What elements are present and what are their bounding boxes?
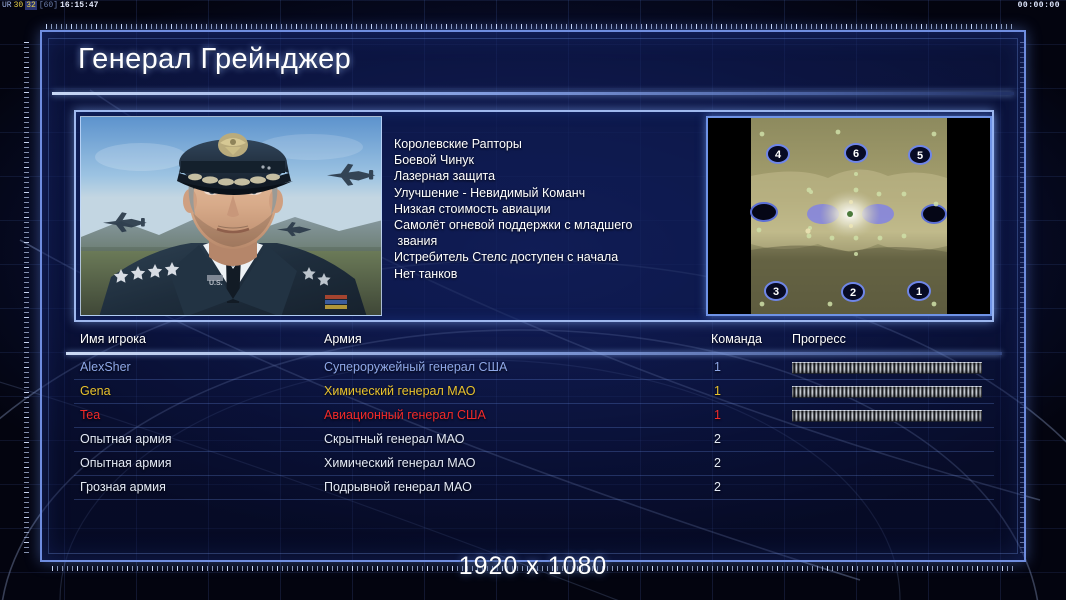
svg-text:1: 1 xyxy=(916,286,922,298)
player-name: Gena xyxy=(80,384,111,398)
ability-item: Низкая стоимость авиации xyxy=(394,201,706,217)
title-bar: Генерал Грейнджер xyxy=(52,40,1012,90)
column-header-name: Имя игрока xyxy=(80,332,146,346)
player-team: 1 xyxy=(714,360,721,374)
svg-text:4: 4 xyxy=(775,149,782,161)
hud-clock-left: 16:15:47 xyxy=(60,1,98,10)
hud-top-bar: UR3032[60]16:15:47 00:00:00 xyxy=(0,0,1066,12)
player-army: Скрытный генерал МАО xyxy=(324,432,464,446)
player-army: Авиационный генерал США xyxy=(324,408,486,422)
ability-item: звания xyxy=(394,233,706,249)
player-team: 2 xyxy=(714,432,721,446)
svg-text:2: 2 xyxy=(850,287,856,299)
player-army: Подрывной генерал МАО xyxy=(324,480,472,494)
resolution-overlay: 1920 x 1080 xyxy=(0,552,1066,581)
svg-text:5: 5 xyxy=(917,150,923,162)
player-table-body: AlexSherСупероружейный генерал США1GenaХ… xyxy=(74,356,994,524)
table-row[interactable]: TeaАвиационный генерал США1 xyxy=(74,404,994,428)
table-header-divider xyxy=(66,352,1002,355)
general-ability-list: Королевские Рапторы Боевой Чинук Лазерна… xyxy=(394,136,706,282)
column-header-army: Армия xyxy=(324,332,362,346)
player-progress xyxy=(792,362,982,374)
progress-bar xyxy=(792,386,982,398)
spawn-marker-2: 2 xyxy=(842,283,864,301)
spawn-marker-3: 3 xyxy=(765,282,787,300)
spawn-marker-1: 1 xyxy=(908,282,930,300)
progress-bar xyxy=(792,362,982,374)
ability-item: Истребитель Стелс доступен с начала xyxy=(394,249,706,265)
player-progress xyxy=(792,410,982,422)
ability-item: Самолёт огневой поддержки с младшего xyxy=(394,217,706,233)
ability-item: Боевой Чинук xyxy=(394,152,706,168)
player-team: 1 xyxy=(714,384,721,398)
player-team: 1 xyxy=(714,408,721,422)
player-progress xyxy=(792,386,982,398)
general-info-panel: U.S. Королевские Рапторы Боевой Чинук Ла… xyxy=(74,110,994,322)
ability-item: Нет танков xyxy=(394,266,706,282)
minimap[interactable]: 4 6 5 3 2 xyxy=(706,116,992,316)
table-row[interactable]: GenaХимический генерал МАО1 xyxy=(74,380,994,404)
column-header-progress: Прогресс xyxy=(792,332,846,346)
player-name: Грозная армия xyxy=(80,480,166,494)
general-portrait: U.S. xyxy=(80,116,382,316)
player-table-header: Имя игрока Армия Команда Прогресс xyxy=(74,332,994,352)
table-row[interactable]: Грозная армияПодрывной генерал МАО2 xyxy=(74,476,994,500)
hud-bracket-value: [60] xyxy=(39,1,58,10)
ability-item: Лазерная защита xyxy=(394,168,706,184)
player-name: Tea xyxy=(80,408,100,422)
spawn-marker-4: 4 xyxy=(767,145,789,163)
hud-value-2: 32 xyxy=(25,1,37,10)
main-panel: Генерал Грейнджер xyxy=(40,30,1026,562)
player-army: Супероружейный генерал США xyxy=(324,360,507,374)
title-divider xyxy=(52,92,1014,95)
player-army: Химический генерал МАО xyxy=(324,456,475,470)
svg-text:6: 6 xyxy=(853,148,859,160)
table-row[interactable]: Опытная армияСкрытный генерал МАО2 xyxy=(74,428,994,452)
player-army: Химический генерал МАО xyxy=(324,384,475,398)
hud-clock-right: 00:00:00 xyxy=(1018,0,1060,12)
table-row[interactable]: Опытная армияХимический генерал МАО2 xyxy=(74,452,994,476)
player-name: Опытная армия xyxy=(80,432,172,446)
hud-status-left: UR3032[60]16:15:47 xyxy=(2,0,100,12)
player-team: 2 xyxy=(714,456,721,470)
page-title: Генерал Грейнджер xyxy=(78,43,351,76)
player-team: 2 xyxy=(714,480,721,494)
table-row[interactable]: AlexSherСупероружейный генерал США1 xyxy=(74,356,994,380)
svg-text:U.S.: U.S. xyxy=(209,280,223,287)
player-name: Опытная армия xyxy=(80,456,172,470)
progress-bar xyxy=(792,410,982,422)
column-header-team: Команда xyxy=(711,332,762,346)
spawn-marker-6: 6 xyxy=(845,144,867,162)
hud-value-1: 30 xyxy=(14,1,24,10)
hud-label-ur: UR xyxy=(2,1,12,10)
svg-text:3: 3 xyxy=(773,286,779,298)
ability-item: Королевские Рапторы xyxy=(394,136,706,152)
ability-item: Улучшение - Невидимый Команч xyxy=(394,185,706,201)
player-name: AlexSher xyxy=(80,360,131,374)
spawn-marker-5: 5 xyxy=(909,146,931,164)
